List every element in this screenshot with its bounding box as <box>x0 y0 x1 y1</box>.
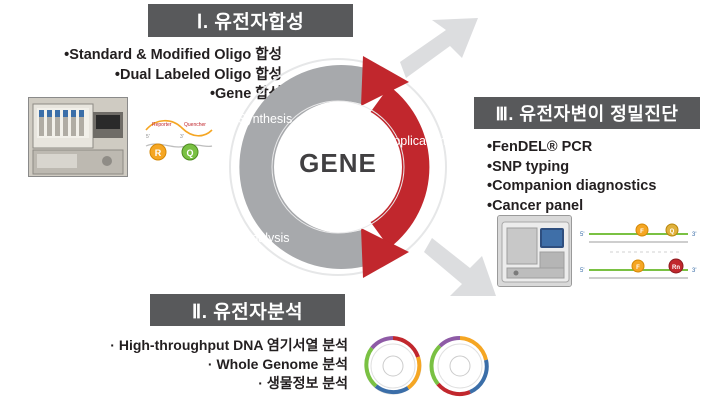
banner-gene-analysis: Ⅱ. 유전자분석 <box>150 294 345 326</box>
quencher-letter: Q <box>186 148 193 158</box>
bullet-item: •Companion diagnostics <box>487 177 712 197</box>
genome-map-left <box>365 338 421 394</box>
svg-text:F: F <box>636 265 640 271</box>
svg-text:F: F <box>640 229 644 235</box>
bullet-item: •Cancer panel <box>487 197 712 217</box>
oligo-synthesizer-photo <box>28 97 128 177</box>
svg-text:3': 3' <box>692 232 696 238</box>
bullet-item: · 생물정보 분석 <box>58 374 348 393</box>
banner-gene-synthesis: Ⅰ. 유전자합성 <box>148 4 353 37</box>
sequencer-instrument-photo <box>497 215 572 287</box>
bullet-item: •SNP typing <box>487 158 712 178</box>
svg-text:3': 3' <box>180 134 184 140</box>
bullet-item: · Whole Genome 분석 <box>58 355 348 374</box>
ring-label-application: Application <box>385 134 446 148</box>
reporter-label: Reporter <box>152 122 172 128</box>
svg-text:5': 5' <box>580 268 584 274</box>
svg-text:Rn: Rn <box>672 265 680 271</box>
quencher-label: Quencher <box>184 122 206 128</box>
bullets-gene-analysis: · High-throughput DNA 염기서열 분석 · Whole Ge… <box>58 336 348 393</box>
svg-text:5': 5' <box>146 134 150 140</box>
bullets-gene-diagnostics: •FenDEL® PCR •SNP typing •Companion diag… <box>487 138 712 216</box>
bullet-item: · High-throughput DNA 염기서열 분석 <box>58 336 348 355</box>
circular-genome-maps <box>360 330 495 402</box>
ring-label-analysis: Analysis <box>243 231 290 245</box>
ring-label-synthesis: Synthesis <box>238 112 292 126</box>
svg-text:Q: Q <box>670 229 675 235</box>
genome-map-right <box>432 338 488 394</box>
svg-text:3': 3' <box>692 268 696 274</box>
probe-reporter-quencher-diagram: R Q Reporter Quencher 5' 3' <box>142 112 217 172</box>
ring-center-label: GENE <box>278 148 398 179</box>
bullet-item: •FenDEL® PCR <box>487 138 712 158</box>
svg-text:5': 5' <box>580 232 584 238</box>
fendel-pcr-probe-illustration: 5' 3' F Q 5' 3' F Rn <box>580 222 710 290</box>
diagram-canvas: Ⅰ. 유전자합성 Ⅱ. 유전자분석 Ⅲ. 유전자변이 정밀진단 •Standar… <box>0 0 728 409</box>
reporter-letter: R <box>155 148 162 158</box>
banner-gene-diagnostics: Ⅲ. 유전자변이 정밀진단 <box>474 97 700 129</box>
